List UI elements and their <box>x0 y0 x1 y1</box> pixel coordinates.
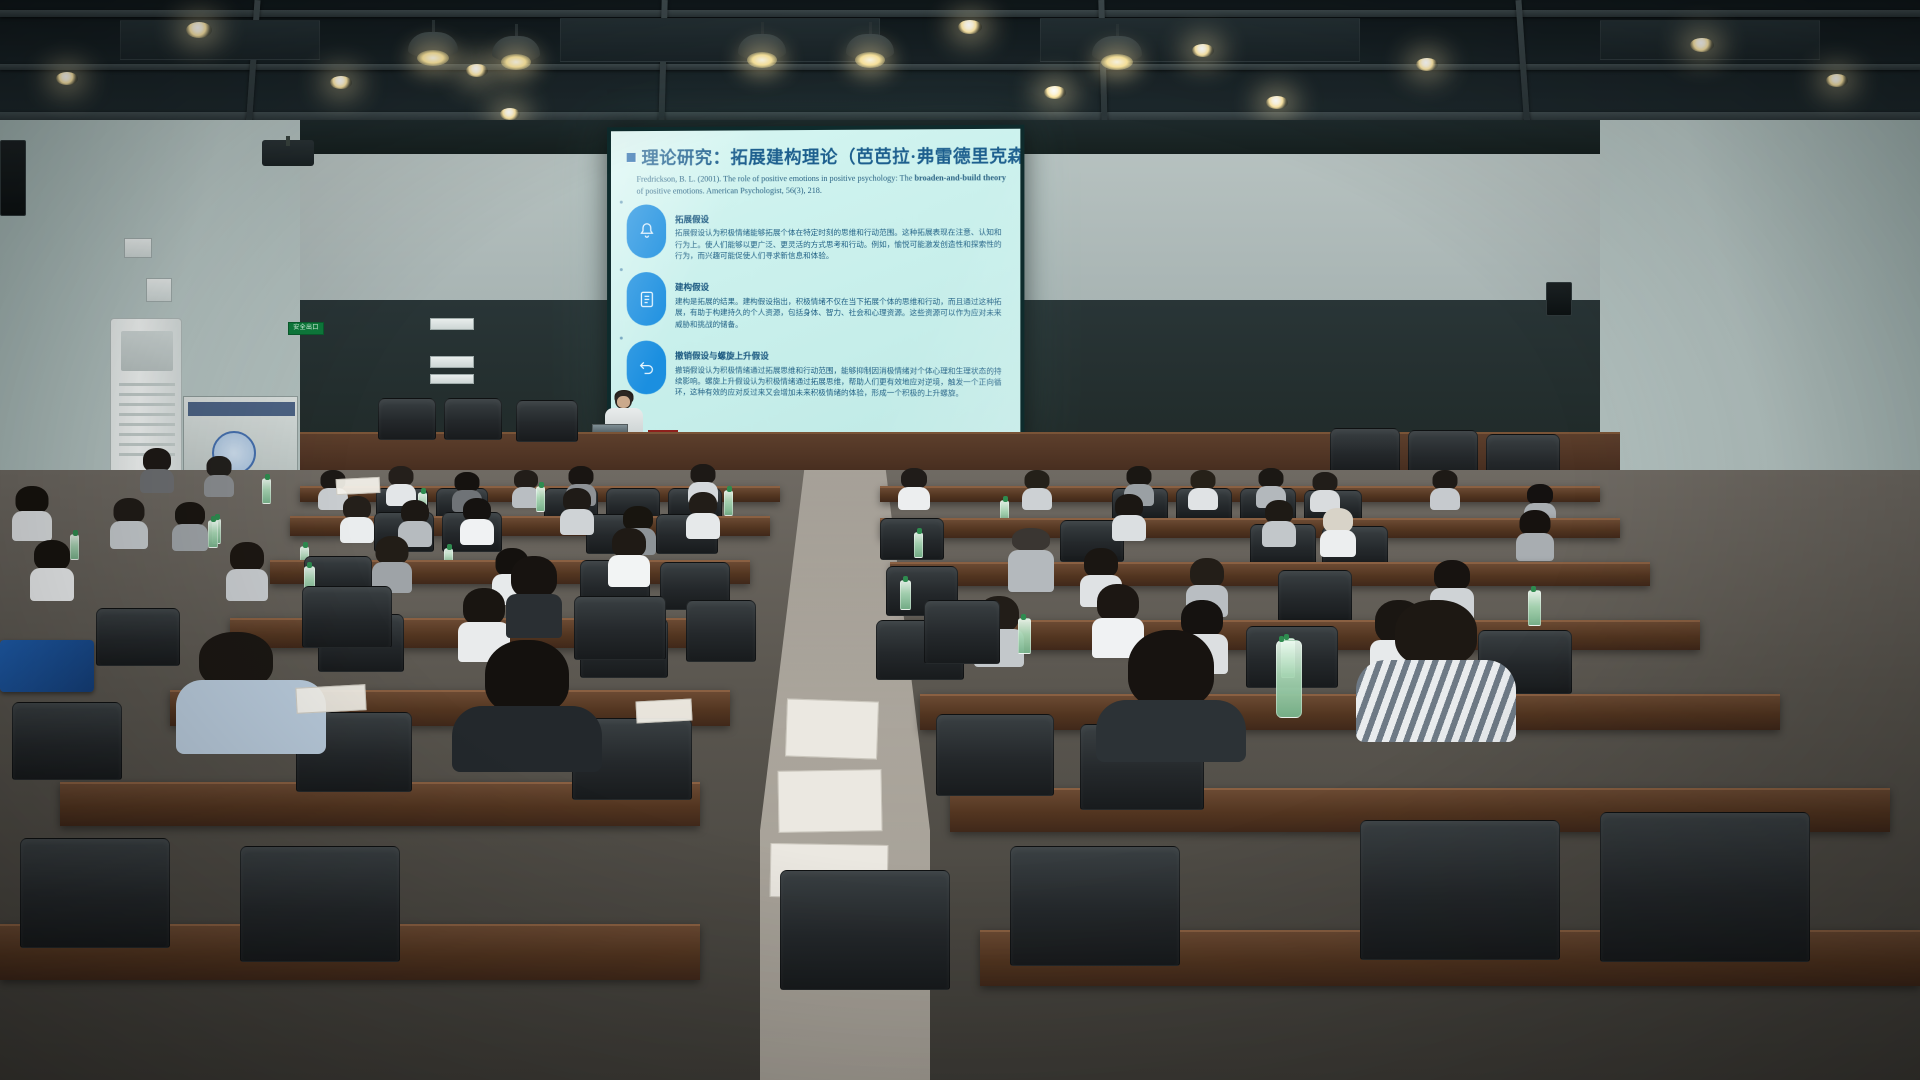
wall-vent-grille <box>430 318 474 330</box>
attendee <box>1112 494 1146 540</box>
pendant-lamp <box>846 22 894 68</box>
attendee <box>12 486 52 540</box>
ceiling-spotlight <box>466 64 488 77</box>
audience-seat <box>924 600 1000 664</box>
attendee <box>1188 470 1218 508</box>
block-heading: 建构假设 <box>675 281 1006 293</box>
attendee <box>386 466 416 504</box>
stage-chair <box>444 398 502 440</box>
floor-paper <box>777 769 882 833</box>
citation-part-1: Fredrickson, B. L. (2001). The role of p… <box>637 174 915 184</box>
blue-bag <box>0 640 94 692</box>
attendee <box>1096 630 1246 760</box>
attendee <box>140 448 174 492</box>
audience-seat <box>880 518 944 560</box>
stage-chair <box>1330 428 1400 474</box>
document-icon <box>627 273 666 327</box>
title-bullet-icon <box>627 153 636 162</box>
attendee <box>1320 508 1356 556</box>
attendee <box>608 528 650 586</box>
citation-part-2: of positive emotions. American Psycholog… <box>637 186 822 196</box>
block-text: 拓展假设认为积极情绪能够拓展个体在特定时刻的思维和行动范围。这种拓展表现在注意、… <box>675 227 1006 262</box>
water-bottle <box>536 486 545 512</box>
attendee <box>560 488 594 534</box>
block-marker-dot <box>620 337 623 340</box>
block-marker-dot <box>620 200 623 203</box>
attendee <box>372 536 412 592</box>
attendee <box>204 456 234 496</box>
ceiling-spotlight <box>500 108 520 120</box>
water-bottle <box>914 532 923 558</box>
slide-block: 建构假设 建构是拓展的结果。建构假设指出，积极情绪不仅在当下拓展个体的思维和行动… <box>627 272 1006 330</box>
desk-paper <box>336 477 381 495</box>
audience-seat <box>12 702 122 780</box>
attendee <box>340 496 374 542</box>
ceiling-spotlight <box>186 22 212 38</box>
block-heading: 拓展假设 <box>675 212 1006 225</box>
slide-title: 理论研究：拓展建构理论（芭芭拉·弗雷德里克森） <box>641 143 1020 170</box>
wall-notice-board <box>146 278 172 302</box>
slide-title-row: 理论研究：拓展建构理论（芭芭拉·弗雷德里克森） <box>627 143 1006 170</box>
attendee <box>30 540 74 600</box>
attendee <box>1008 528 1054 592</box>
projection-screen: 理论研究：拓展建构理论（芭芭拉·弗雷德里克森） Fredrickson, B. … <box>607 125 1024 448</box>
pendant-lamp <box>492 24 540 70</box>
attendee <box>1262 500 1296 546</box>
wall-speaker-left <box>0 140 26 216</box>
attendee <box>1356 600 1516 740</box>
attendee <box>460 498 494 544</box>
ceiling-spotlight <box>56 72 78 85</box>
audience-seat <box>1360 820 1560 960</box>
projector-arm <box>286 136 290 146</box>
desk-paper <box>295 684 366 714</box>
ceiling-spotlight <box>1690 38 1714 52</box>
slide-block: 撤销假设与螺旋上升假设 撤销假设认为积极情绪通过拓展思维和行动范围，能够抑制因消… <box>627 341 1006 400</box>
water-bottle <box>1018 618 1031 654</box>
block-text: 撤销假设认为积极情绪通过拓展思维和行动范围，能够抑制因消极情绪对个体心理和生理状… <box>675 364 1006 399</box>
pendant-lamp <box>408 20 458 66</box>
ceiling-spotlight <box>1266 96 1288 109</box>
audience-seat <box>1010 846 1180 966</box>
wall-vent-grille <box>430 356 474 368</box>
floor-paper <box>785 698 879 759</box>
wall-vent-grille <box>430 374 474 384</box>
desk-paper <box>635 699 692 724</box>
water-bottle <box>262 478 271 504</box>
ceiling-spotlight <box>1044 86 1066 99</box>
lecture-hall-photo: 安全出口 理论研究：拓展建构理论（芭芭拉·弗雷德里克森） Fredrickson… <box>0 0 1920 1080</box>
pendant-lamp <box>738 22 786 68</box>
attendee <box>110 498 148 548</box>
audience-seat <box>240 846 400 962</box>
audience-seat <box>936 714 1054 796</box>
stage-chair <box>378 398 436 440</box>
ceiling-spotlight <box>1416 58 1438 71</box>
slide-citation: Fredrickson, B. L. (2001). The role of p… <box>637 172 1007 197</box>
bell-icon <box>627 204 666 258</box>
water-bottle <box>724 490 733 516</box>
wall-speaker-right <box>1546 282 1572 316</box>
ceiling-spotlight <box>1192 44 1214 57</box>
wall-control-panel <box>124 238 152 258</box>
slide-blocks: 拓展假设 拓展假设认为积极情绪能够拓展个体在特定时刻的思维和行动范围。这种拓展表… <box>627 203 1006 400</box>
attendee <box>1022 470 1052 508</box>
slide-block: 拓展假设 拓展假设认为积极情绪能够拓展个体在特定时刻的思维和行动范围。这种拓展表… <box>627 203 1006 261</box>
slide-surface: 理论研究：拓展建构理论（芭芭拉·弗雷德里克森） Fredrickson, B. … <box>611 129 1020 444</box>
attendee <box>898 468 930 508</box>
ceiling-spotlight <box>330 76 352 89</box>
ceiling-spotlight <box>1826 74 1848 87</box>
attendee <box>226 542 268 600</box>
water-bottle <box>1528 590 1541 626</box>
exit-sign-text: 安全出口 <box>289 323 323 334</box>
attendee <box>1516 510 1554 560</box>
attendee <box>1310 472 1340 510</box>
block-marker-dot <box>620 269 623 272</box>
exit-sign: 安全出口 <box>288 322 324 335</box>
attendee <box>506 556 562 636</box>
audience-seat <box>96 608 180 666</box>
water-bottle <box>1276 640 1302 718</box>
block-heading: 撤销假设与螺旋上升假设 <box>675 350 1006 363</box>
ceiling-spotlight <box>958 20 982 34</box>
block-text: 建构是拓展的结果。建构假设指出，积极情绪不仅在当下拓展个体的思维和行动，而且通过… <box>675 296 1006 331</box>
attendee <box>172 502 208 550</box>
water-bottle <box>900 580 911 610</box>
audience-desk-row <box>890 562 1650 586</box>
attendee <box>452 640 602 770</box>
pendant-lamp <box>1092 24 1142 70</box>
audience-seat <box>686 600 756 662</box>
attendee <box>1430 470 1460 508</box>
stage-chair <box>516 400 578 442</box>
attendee <box>686 492 720 538</box>
undo-icon <box>627 341 666 395</box>
audience-seat <box>780 870 950 990</box>
audience-seat <box>20 838 170 948</box>
audience-seat <box>1600 812 1810 962</box>
water-bottle <box>208 520 218 548</box>
citation-bold-term: broaden-and-build theory <box>914 173 1006 182</box>
audience-seat <box>1278 570 1352 622</box>
